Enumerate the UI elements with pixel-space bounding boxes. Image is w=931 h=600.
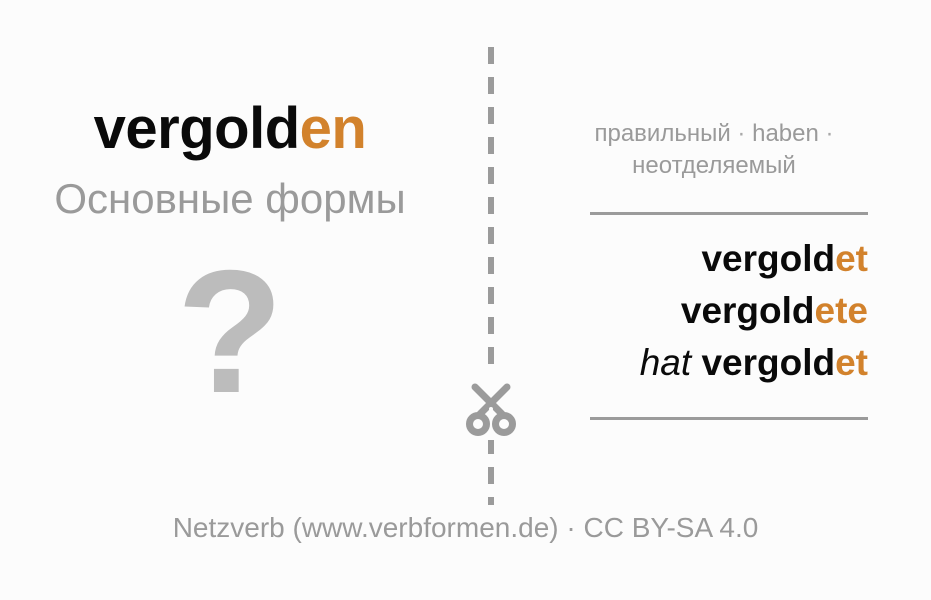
verb-attributes: правильный · haben · неотделяемый bbox=[560, 118, 868, 183]
attribute-regularity: правильный bbox=[594, 120, 730, 147]
page-subtitle: Основные формы bbox=[0, 178, 460, 220]
scissors-icon bbox=[459, 376, 523, 440]
divider-bottom bbox=[590, 417, 868, 420]
question-mark-icon: ? bbox=[0, 245, 460, 420]
form-present-suffix: et bbox=[835, 238, 868, 279]
form-present: vergoldet bbox=[560, 240, 868, 277]
attribute-separability: неотделяемый bbox=[632, 152, 796, 179]
divider-top bbox=[590, 212, 868, 215]
attribute-separator-1: · bbox=[737, 120, 745, 147]
headline-stem: vergold bbox=[94, 96, 300, 161]
form-perfect-suffix: et bbox=[835, 342, 868, 383]
form-preterite-stem: vergold bbox=[681, 290, 815, 331]
form-present-stem: vergold bbox=[701, 238, 835, 279]
left-panel: vergolden Основные формы ? bbox=[0, 0, 460, 600]
form-preterite-suffix: ete bbox=[815, 290, 868, 331]
footer-attribution: Netzverb (www.verbformen.de) · CC BY-SA … bbox=[0, 512, 931, 544]
verb-forms-card: vergolden Основные формы ? правильный · … bbox=[0, 0, 931, 600]
attribute-separator-2: · bbox=[826, 120, 834, 147]
form-perfect-auxiliary: hat bbox=[640, 342, 691, 383]
principal-parts-list: vergoldet vergoldete hat vergoldet bbox=[560, 240, 868, 381]
right-panel: правильный · haben · неотделяемый vergol… bbox=[560, 0, 931, 600]
attribute-auxiliary: haben bbox=[752, 120, 819, 147]
form-perfect-stem: vergold bbox=[701, 342, 835, 383]
form-perfect: hat vergoldet bbox=[560, 344, 868, 381]
headline-suffix: en bbox=[300, 96, 367, 161]
page-title: vergolden bbox=[0, 100, 460, 158]
form-preterite: vergoldete bbox=[560, 292, 868, 329]
